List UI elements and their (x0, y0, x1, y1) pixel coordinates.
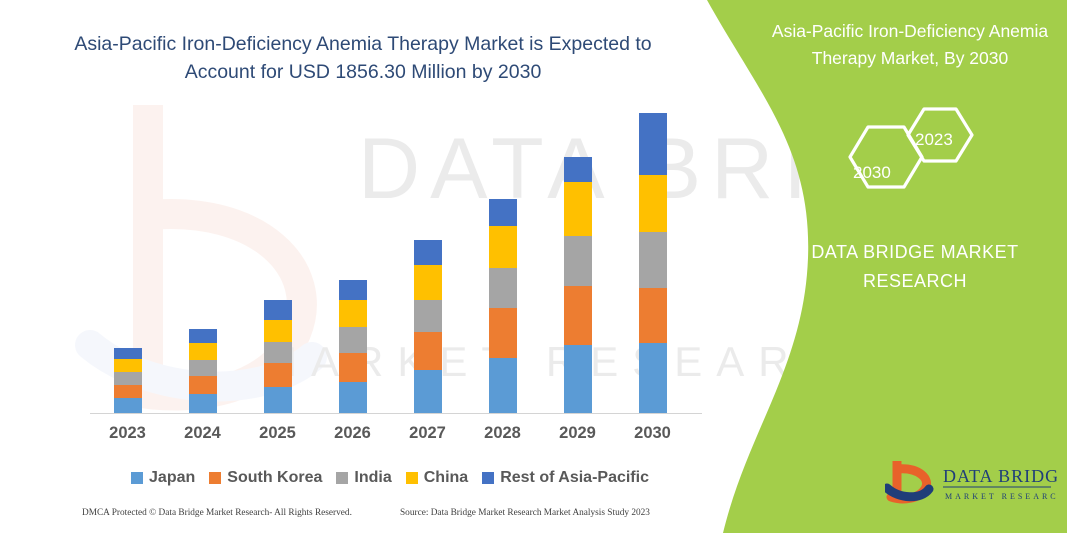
legend-label: India (354, 469, 391, 487)
x-axis-labels: 20232024202520262027202820292030 (90, 424, 690, 448)
bar-segment (414, 240, 442, 265)
bar-segment (339, 327, 367, 353)
x-axis-label-2030: 2030 (623, 424, 683, 443)
x-axis-label-2027: 2027 (398, 424, 458, 443)
bar-segment (564, 182, 592, 236)
bar-segment (264, 387, 292, 413)
bar-column-2026 (339, 280, 367, 413)
bar-segment (114, 372, 142, 385)
bar-segment (414, 370, 442, 413)
legend-item-china[interactable]: China (406, 469, 468, 487)
logo-primary-text: DATA BRIDGE (943, 466, 1057, 486)
hexagon-badges: 2030 2023 (820, 105, 1000, 215)
chart-plot-area (90, 100, 690, 413)
x-axis-label-2024: 2024 (173, 424, 233, 443)
x-axis-label-2029: 2029 (548, 424, 608, 443)
bar-segment (114, 398, 142, 413)
hexagon-2030-label: 2030 (853, 163, 891, 183)
x-axis-line (90, 413, 702, 414)
x-axis-label-2023: 2023 (98, 424, 158, 443)
bar-segment (339, 280, 367, 299)
legend-item-south-korea[interactable]: South Korea (209, 469, 322, 487)
bar-segment (264, 342, 292, 364)
bar-column-2025 (264, 300, 292, 413)
bar-segment (264, 320, 292, 342)
bar-segment (414, 332, 442, 370)
legend-swatch-icon (209, 472, 221, 484)
logo-secondary-text: MARKET RESEARCH (945, 492, 1057, 501)
bar-column-2027 (414, 240, 442, 413)
bar-segment (489, 226, 517, 268)
bar-segment (489, 199, 517, 226)
bar-segment (564, 236, 592, 286)
panel-title: Asia-Pacific Iron-Deficiency Anemia Ther… (760, 18, 1060, 72)
infographic-canvas: DATA BRIDGE MARKET RESEARCH Asia-Pacific… (0, 0, 1067, 533)
bar-segment (189, 343, 217, 360)
bar-segment (114, 385, 142, 398)
bar-segment (264, 363, 292, 387)
legend-label: Rest of Asia-Pacific (500, 469, 649, 487)
hexagon-2023-label: 2023 (915, 130, 953, 150)
legend-item-japan[interactable]: Japan (131, 469, 195, 487)
bar-segment (564, 157, 592, 182)
legend-swatch-icon (336, 472, 348, 484)
bar-segment (489, 268, 517, 308)
legend-swatch-icon (131, 472, 143, 484)
bar-segment (639, 343, 667, 413)
bar-segment (639, 288, 667, 343)
bar-segment (564, 345, 592, 413)
bar-segment (489, 308, 517, 358)
legend-label: China (424, 469, 468, 487)
footer-dmca-text: DMCA Protected © Data Bridge Market Rese… (82, 508, 352, 518)
bar-segment (639, 113, 667, 175)
bar-column-2023 (114, 348, 142, 413)
chart-legend: JapanSouth KoreaIndiaChinaRest of Asia-P… (90, 466, 690, 490)
bar-segment (189, 329, 217, 343)
panel-brand-text: DATA BRIDGE MARKET RESEARCH (770, 238, 1060, 296)
bar-segment (189, 360, 217, 376)
bar-segment (414, 300, 442, 332)
logo-mark-icon (887, 461, 929, 499)
bar-segment (114, 359, 142, 372)
footer-source-text: Source: Data Bridge Market Research Mark… (400, 508, 650, 518)
bar-segment (339, 382, 367, 413)
bar-column-2024 (189, 329, 217, 413)
bar-segment (414, 265, 442, 300)
bar-segment (339, 353, 367, 382)
bar-segment (189, 376, 217, 393)
x-axis-label-2028: 2028 (473, 424, 533, 443)
bar-segment (114, 348, 142, 359)
bar-column-2029 (564, 157, 592, 413)
legend-swatch-icon (482, 472, 494, 484)
bar-segment (339, 300, 367, 327)
legend-label: South Korea (227, 469, 322, 487)
bar-segment (189, 394, 217, 413)
footer: DMCA Protected © Data Bridge Market Rese… (0, 506, 700, 526)
bar-segment (264, 300, 292, 321)
hexagon-outline-icon (820, 105, 1000, 215)
bar-segment (639, 175, 667, 232)
legend-label: Japan (149, 469, 195, 487)
bar-column-2028 (489, 199, 517, 413)
bar-segment (639, 232, 667, 288)
chart-title: Asia-Pacific Iron-Deficiency Anemia Ther… (58, 30, 668, 86)
legend-item-india[interactable]: India (336, 469, 391, 487)
legend-item-rest-of-asia-pacific[interactable]: Rest of Asia-Pacific (482, 469, 649, 487)
bar-column-2030 (639, 113, 667, 413)
data-bridge-logo: DATA BRIDGE MARKET RESEARCH (885, 455, 1057, 507)
x-axis-label-2026: 2026 (323, 424, 383, 443)
x-axis-label-2025: 2025 (248, 424, 308, 443)
bar-segment (489, 358, 517, 413)
legend-swatch-icon (406, 472, 418, 484)
bar-segment (564, 286, 592, 345)
